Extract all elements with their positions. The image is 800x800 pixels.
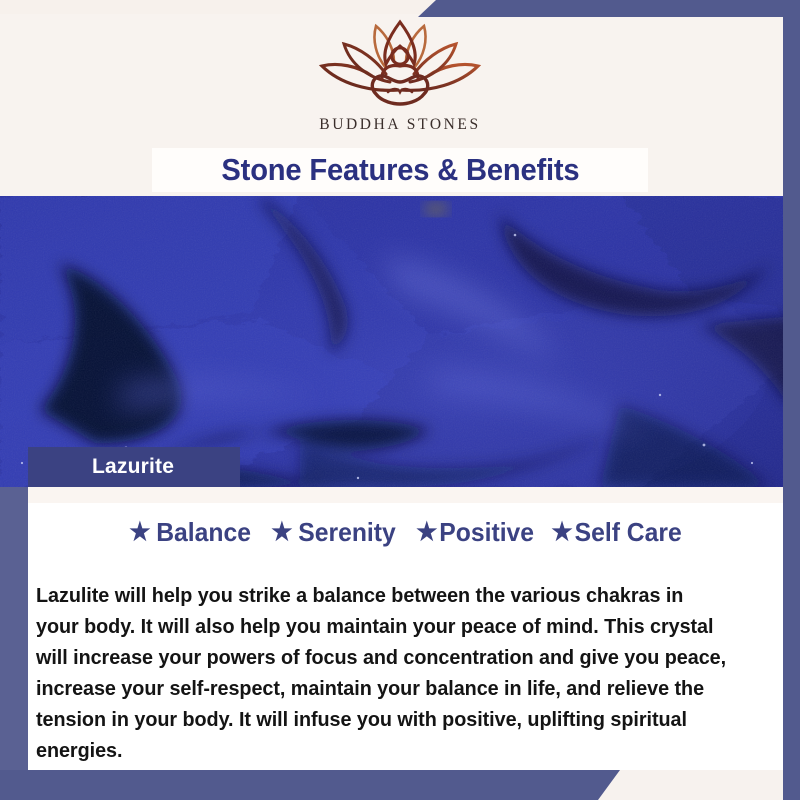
frame-bar-bottom [0, 770, 620, 800]
content-panel: ★ Balance ★ Serenity ★ Positive ★ Self C… [28, 487, 783, 770]
frame-bar-right [783, 0, 800, 800]
page-title-band: Stone Features & Benefits [152, 148, 648, 192]
feature-item-serenity: ★ Serenity [272, 517, 396, 548]
star-icon: ★ [129, 520, 150, 545]
stone-description: Lazulite will help you strike a balance … [36, 581, 727, 767]
frame-bar-left [0, 487, 28, 770]
feature-item-balance: ★ Balance [129, 517, 251, 548]
feature-list: ★ Balance ★ Serenity ★ Positive ★ Self C… [28, 517, 783, 548]
panel-top-tint [28, 487, 783, 503]
lazurite-rough-stone-photo [0, 195, 800, 487]
star-icon: ★ [551, 520, 572, 545]
feature-item-positive: ★ Positive [417, 517, 535, 548]
brand-logo: BUDDHA STONES [0, 16, 800, 134]
stone-name: Lazurite [92, 455, 174, 479]
brand-name: BUDDHA STONES [319, 116, 480, 134]
lotus-meditation-icon [310, 16, 490, 112]
feature-label: Positive [440, 517, 535, 548]
star-icon: ★ [272, 520, 293, 545]
frame-bar-top [418, 0, 800, 17]
header-section: BUDDHA STONES Stone Features & Benefits [0, 0, 800, 196]
stone-photo [0, 195, 800, 487]
feature-label: Serenity [299, 517, 396, 548]
feature-label: Balance [156, 517, 251, 548]
feature-label: Self Care [574, 517, 681, 548]
infographic-card: BUDDHA STONES Stone Features & Benefits [0, 0, 800, 800]
feature-item-self-care: ★ Self Care [551, 517, 681, 548]
stone-name-banner: Lazurite [28, 447, 240, 487]
page-title: Stone Features & Benefits [221, 152, 579, 188]
star-icon: ★ [417, 520, 438, 545]
